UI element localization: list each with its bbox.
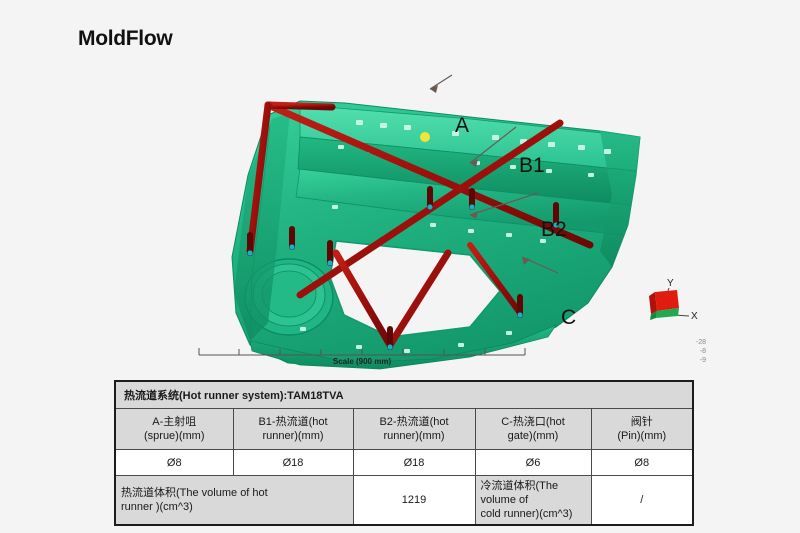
coord-value-2: -8 — [666, 347, 706, 356]
header-b1-line2: runner)(mm) — [262, 430, 323, 442]
value-sprue: Ø8 — [115, 450, 233, 476]
model-label-c: C — [561, 307, 576, 328]
value-hot-runner-volume: 1219 — [353, 476, 475, 526]
cold-volume-line2: cold runner)(cm^3) — [481, 508, 573, 520]
value-runner-b1: Ø18 — [233, 450, 353, 476]
header-b2-line1: B2-热流道(hot — [379, 416, 448, 428]
header-c-line2: gate)(mm) — [508, 430, 559, 442]
coordinate-readout: -28 -8 -9 — [666, 338, 706, 365]
axis-x-label: X — [691, 311, 698, 322]
coord-value-1: -28 — [666, 338, 706, 347]
header-c-line1: C-热浇口(hot — [501, 416, 565, 428]
header-pin-line1: 阀针 — [631, 416, 653, 428]
label-cold-runner-volume: 冷流道体积(The volume of cold runner)(cm^3) — [475, 476, 591, 526]
model-label-a: A — [455, 115, 469, 136]
axis-y-label: Y — [667, 278, 674, 289]
coord-value-3: -9 — [666, 356, 706, 365]
header-sprue-line1: A-主射咀 — [152, 416, 196, 428]
value-cold-runner-volume: / — [591, 476, 693, 526]
header-b1-line1: B1-热流道(hot — [258, 416, 327, 428]
model-label-b1: B1 — [519, 155, 545, 176]
header-runner-b2: B2-热流道(hot runner)(mm) — [353, 409, 475, 450]
header-runner-b1: B1-热流道(hot runner)(mm) — [233, 409, 353, 450]
header-pin-line2: (Pin)(mm) — [617, 430, 666, 442]
value-gate-c: Ø6 — [475, 450, 591, 476]
table-row-title: 热流道系统(Hot runner system):TAM18TVA — [115, 381, 693, 409]
hot-runner-spec-table: 热流道系统(Hot runner system):TAM18TVA A-主射咀 … — [114, 380, 694, 526]
sprue-marker-icon — [420, 132, 430, 142]
model-label-b2: B2 — [541, 219, 567, 240]
axis-triad: Y X — [645, 278, 715, 338]
table-row-values: Ø8 Ø18 Ø18 Ø6 Ø8 — [115, 450, 693, 476]
header-b2-line2: runner)(mm) — [383, 430, 444, 442]
table-row-headers: A-主射咀 (sprue)(mm) B1-热流道(hot runner)(mm)… — [115, 409, 693, 450]
scale-bar: Scale (900 mm) — [197, 345, 527, 373]
value-runner-b2: Ø18 — [353, 450, 475, 476]
cold-volume-line1: 冷流道体积(The volume of — [481, 480, 559, 506]
axis-triad-glyph — [645, 278, 715, 326]
hot-volume-line1: 热流道体积(The volume of hot — [121, 487, 268, 499]
label-hot-runner-volume: 热流道体积(The volume of hot runner )(cm^3) — [115, 476, 353, 526]
header-sprue: A-主射咀 (sprue)(mm) — [115, 409, 233, 450]
value-pin: Ø8 — [591, 450, 693, 476]
table-title: 热流道系统(Hot runner system):TAM18TVA — [115, 381, 693, 409]
hot-volume-line2: runner )(cm^3) — [121, 501, 193, 513]
header-pin: 阀针 (Pin)(mm) — [591, 409, 693, 450]
table-row-volumes: 热流道体积(The volume of hot runner )(cm^3) 1… — [115, 476, 693, 526]
scale-bar-caption: Scale (900 mm) — [197, 357, 527, 366]
header-gate-c: C-热浇口(hot gate)(mm) — [475, 409, 591, 450]
header-sprue-line2: (sprue)(mm) — [144, 430, 205, 442]
